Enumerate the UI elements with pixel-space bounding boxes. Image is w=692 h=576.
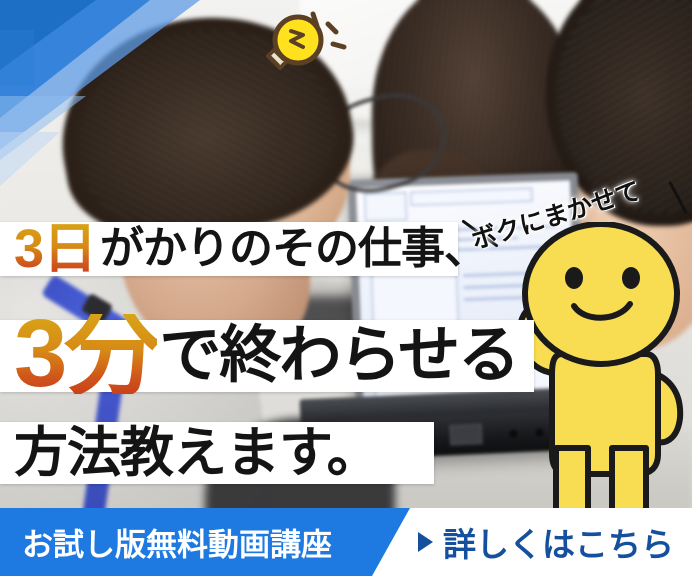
headline-line-3: 方法教えます。	[0, 422, 434, 484]
headline-1-rest: がかりのその仕事、	[100, 225, 487, 273]
headline-1-highlight: 3日	[14, 222, 96, 276]
headline-3-text: 方法教えます。	[14, 424, 380, 482]
free-trial-badge[interactable]: お試し版無料動画講座	[0, 508, 410, 576]
promo-banner: ボクにまかせて 3日 がかりのその仕事、	[0, 0, 692, 576]
headline-2-highlight: 3分	[14, 314, 157, 394]
headline-2-rest: で終わらせる	[159, 323, 518, 389]
play-triangle-icon	[418, 532, 433, 552]
bottom-bar: お試し版無料動画講座 詳しくはこちら	[0, 508, 692, 576]
headline-line-1: 3日 がかりのその仕事、	[0, 222, 458, 276]
details-cta-label: 詳しくはこちら	[443, 518, 674, 566]
headline-line-2: 3分 で終わらせる	[0, 320, 534, 392]
free-trial-badge-label: お試し版無料動画講座	[22, 520, 332, 565]
idea-lightbulb-icon	[256, 4, 348, 80]
details-cta-link[interactable]: 詳しくはこちら	[418, 518, 674, 566]
